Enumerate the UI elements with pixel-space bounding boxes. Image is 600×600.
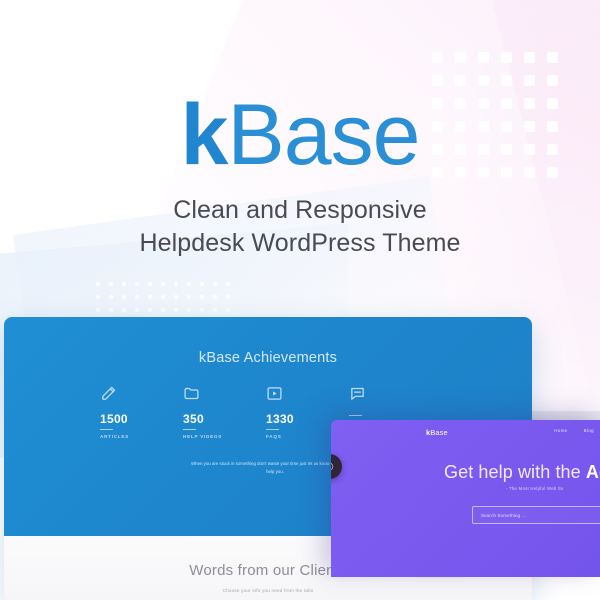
wordmark-base: Base	[227, 87, 419, 183]
tagline-line-1: Clean and Responsive	[0, 194, 600, 227]
theme-preview-panel: kBase Home Blog Get help with the Adva -…	[331, 420, 600, 577]
wordmark-k: k	[181, 87, 228, 183]
speech-bubble-icon	[349, 385, 366, 402]
stat-help-videos: 350 HELP VIDEOS	[183, 385, 266, 439]
stat-articles: 1500 ARTICLES	[100, 385, 183, 439]
hero-tagline: Clean and Responsive Helpdesk WordPress …	[0, 194, 600, 259]
achievements-title: kBase Achievements	[4, 350, 532, 366]
preview-nav: Home Blog	[554, 428, 594, 433]
testimonials-subtitle: Choose your info you need from the tabs	[4, 588, 532, 593]
preview-subtitle: - The Most Helpful Web Se	[506, 486, 564, 491]
preview-heading: Get help with the Adva	[444, 462, 600, 483]
preview-heading-bold: Adva	[586, 462, 600, 482]
stat-help-videos-label: HELP VIDEOS	[183, 434, 266, 439]
play-box-icon	[266, 385, 283, 402]
pencil-icon	[100, 385, 117, 402]
clock-icon	[331, 454, 342, 479]
stat-articles-label: ARTICLES	[100, 434, 183, 439]
folder-icon	[183, 385, 200, 402]
screenshot-canvas: kBase Clean and Responsive Helpdesk Word…	[0, 0, 600, 600]
preview-nav-home[interactable]: Home	[554, 428, 567, 433]
brand-wordmark: kBase	[0, 92, 600, 178]
preview-heading-light: Get help with the	[444, 462, 586, 482]
preview-search-input[interactable]: Search Something ...	[472, 506, 600, 524]
preview-logo-base: Base	[430, 428, 448, 437]
decorative-dot-grid	[96, 282, 230, 312]
preview-nav-blog[interactable]: Blog	[584, 428, 594, 433]
tagline-line-2: Helpdesk WordPress Theme	[0, 227, 600, 260]
stat-help-videos-number: 350	[183, 412, 266, 430]
preview-logo: kBase	[426, 428, 448, 437]
stat-fourth-number	[349, 412, 432, 416]
hero-section: kBase Clean and Responsive Helpdesk Word…	[0, 92, 600, 259]
stat-articles-number: 1500	[100, 412, 183, 430]
